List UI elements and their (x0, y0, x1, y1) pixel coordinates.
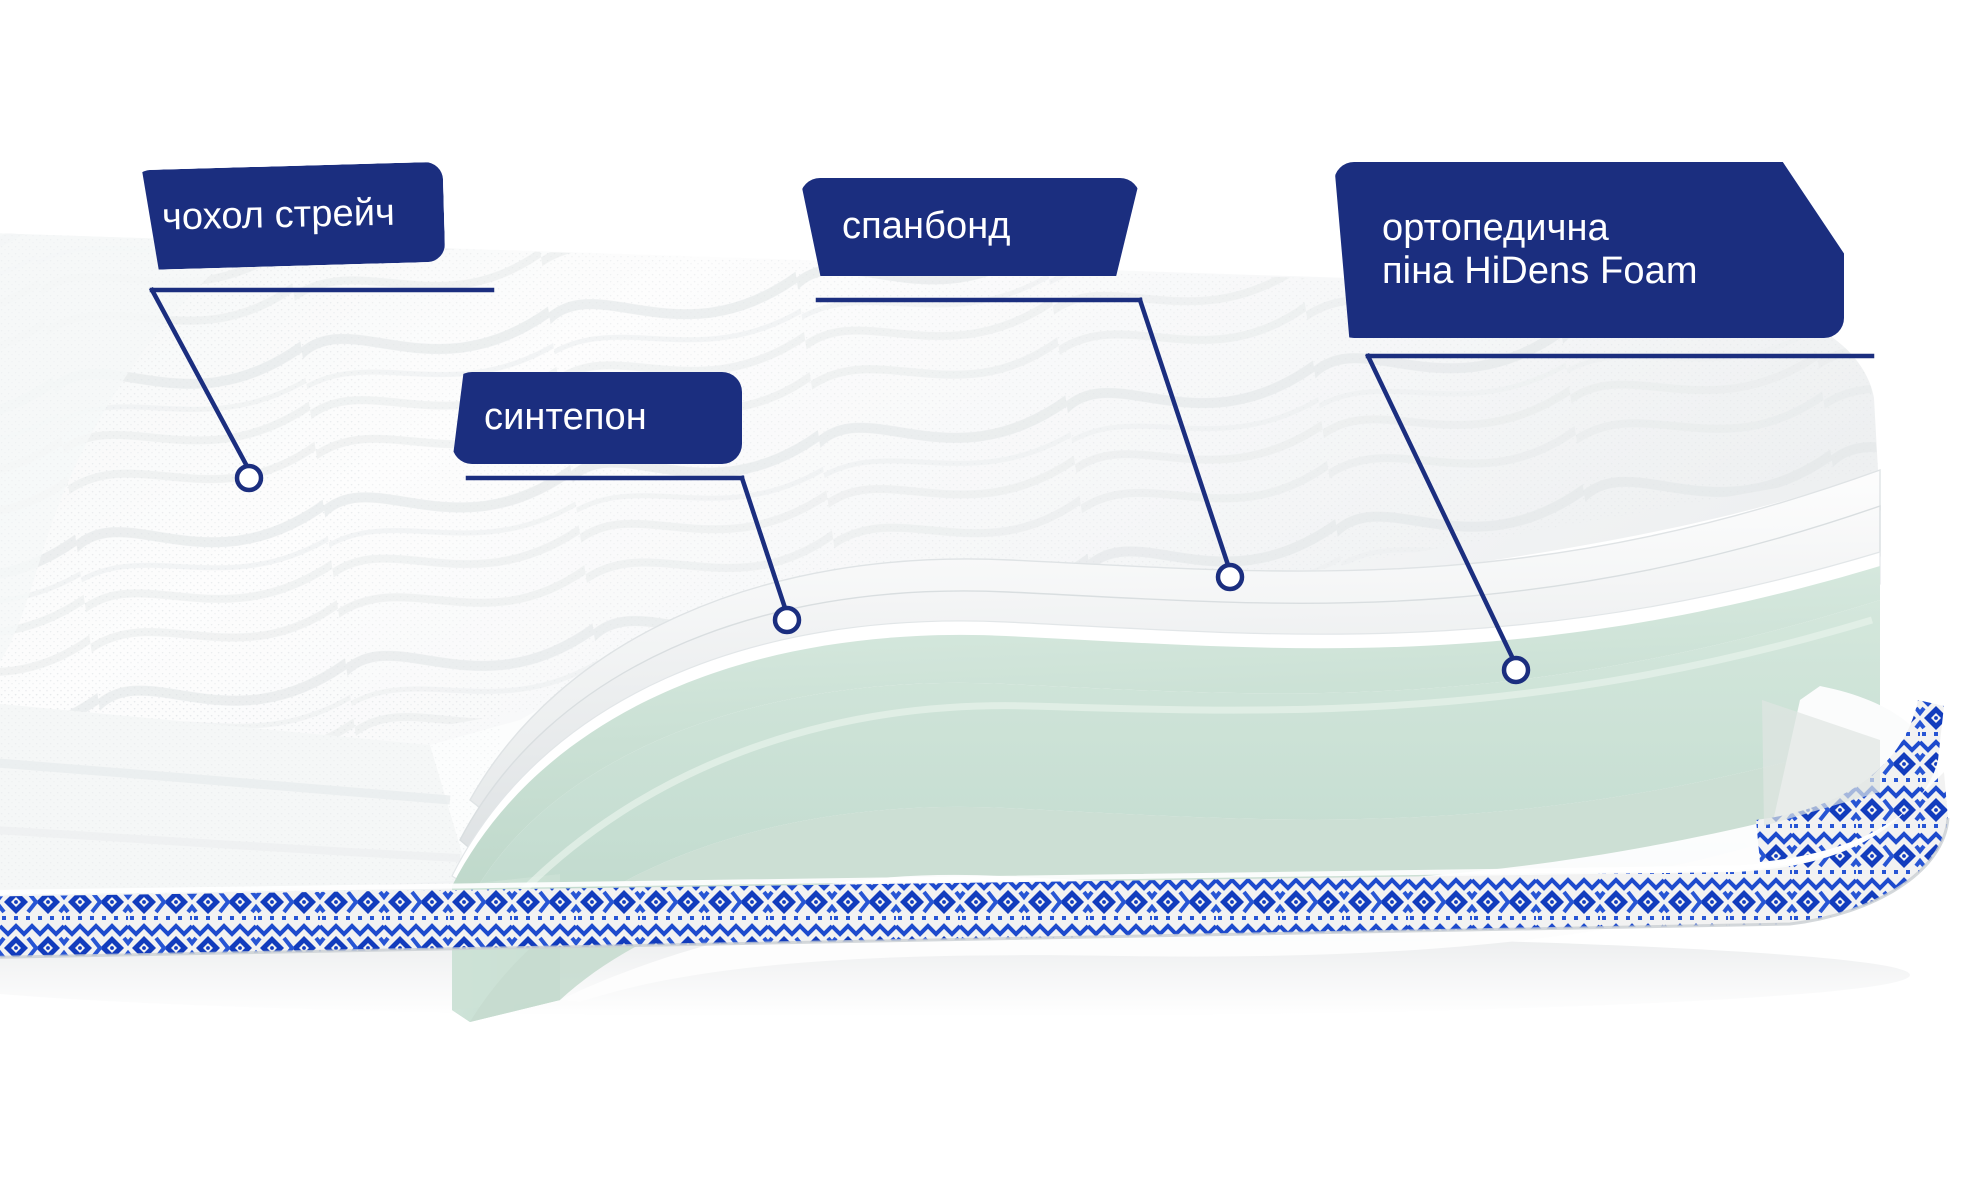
edge-trim-tape (0, 772, 1948, 958)
marker-dot-cover[interactable] (237, 466, 261, 490)
foam-right-seam (1762, 700, 1880, 826)
infographic-canvas: чохол стрейч синтепон спанбонд ортопедич… (0, 0, 1980, 1200)
leader-line-cover (152, 290, 249, 470)
foam-lower-edge (470, 736, 1880, 1022)
callout-label-spunbond: спанбонд (842, 205, 1140, 248)
marker-dot-synth[interactable] (775, 608, 799, 632)
topper-side-body (0, 640, 1762, 905)
leader-line-foam (1368, 356, 1514, 661)
marker-dot-spun[interactable] (1218, 565, 1242, 589)
layer-spunbond (470, 470, 1880, 822)
foam-highlight (520, 620, 1872, 894)
topper-right-corner (1760, 686, 1942, 896)
cover-left-side-wall (0, 700, 470, 905)
layer-liner (452, 552, 1880, 890)
foam-left-end (452, 874, 560, 1022)
base-white-strip (560, 800, 1880, 1002)
topper-front-face (430, 700, 1859, 890)
leader-line-synth (742, 478, 786, 611)
cover-side-quilt (0, 690, 500, 920)
callout-label-orthopedic-foam: ортопедична піна HiDens Foam (1382, 207, 1844, 294)
callout-badge-synthetic-padding[interactable]: синтепон (452, 372, 742, 464)
callout-badge-orthopedic-foam[interactable]: ортопедична піна HiDens Foam (1334, 162, 1844, 338)
leader-line-spun (1140, 300, 1229, 568)
callout-badge-cover[interactable]: чохол стрейч (133, 162, 446, 271)
edge-trim-corner (1756, 700, 1944, 862)
marker-dot-foam[interactable] (1504, 658, 1528, 682)
foam-top-surface (452, 566, 1880, 900)
callout-label-cover: чохол стрейч (162, 191, 445, 240)
foam-front-face (452, 600, 1880, 1022)
callout-badge-spunbond[interactable]: спанбонд (800, 178, 1140, 276)
layer-synthetic-padding (460, 506, 1880, 862)
foam-step (452, 874, 560, 1010)
callout-label-synthetic-padding: синтепон (484, 396, 742, 439)
cover-left-corner (0, 232, 250, 700)
floor-shadow (0, 933, 1910, 1017)
